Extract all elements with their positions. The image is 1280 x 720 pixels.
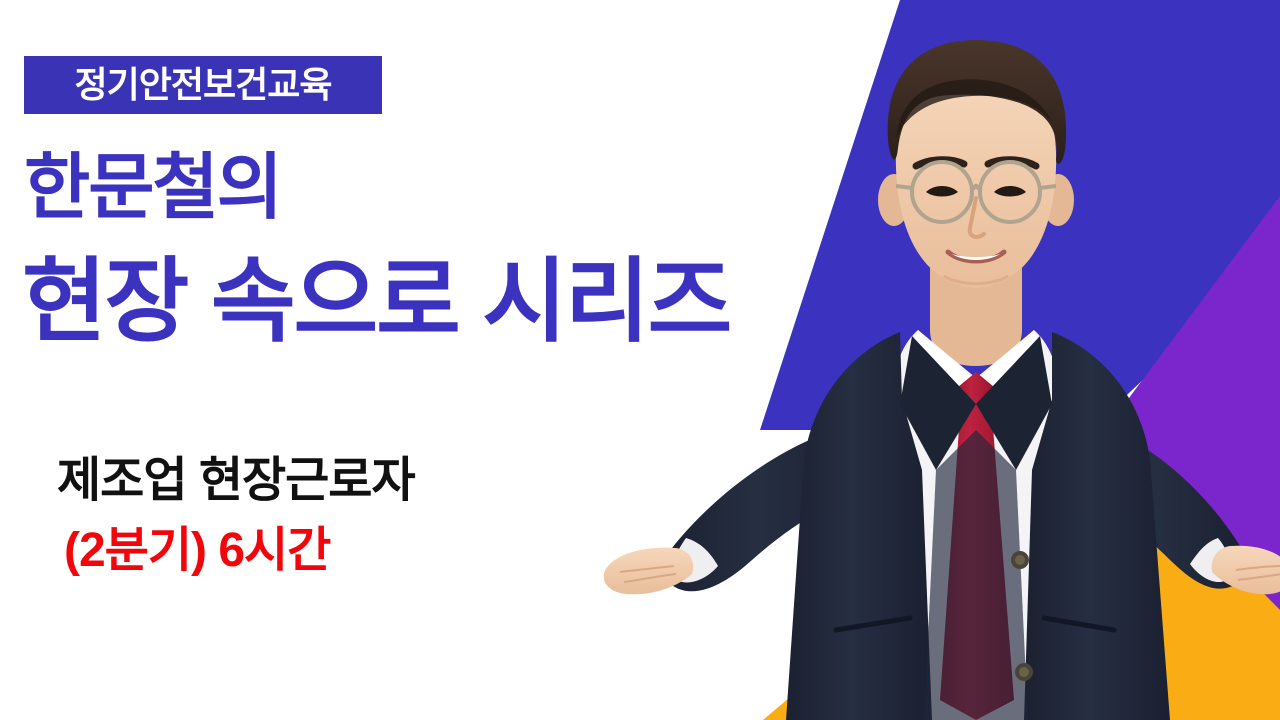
title-line-2: 현장 속으로 시리즈: [22, 256, 730, 348]
title-line-1: 한문철의: [24, 152, 281, 224]
category-badge: 정기안전보건교육: [24, 56, 382, 114]
portrait-head: [878, 40, 1074, 288]
subtitle-line-2: (2분기) 6시간: [64, 527, 330, 575]
subtitle-line-1: 제조업 현장근로자: [57, 457, 415, 505]
instructor-portrait: [600, 0, 1280, 720]
course-thumbnail-banner: 정기안전보건교육 한문철의 현장 속으로 시리즈 제조업 현장근로자 (2분기)…: [0, 0, 1280, 720]
category-badge-label: 정기안전보건교육: [75, 67, 332, 103]
